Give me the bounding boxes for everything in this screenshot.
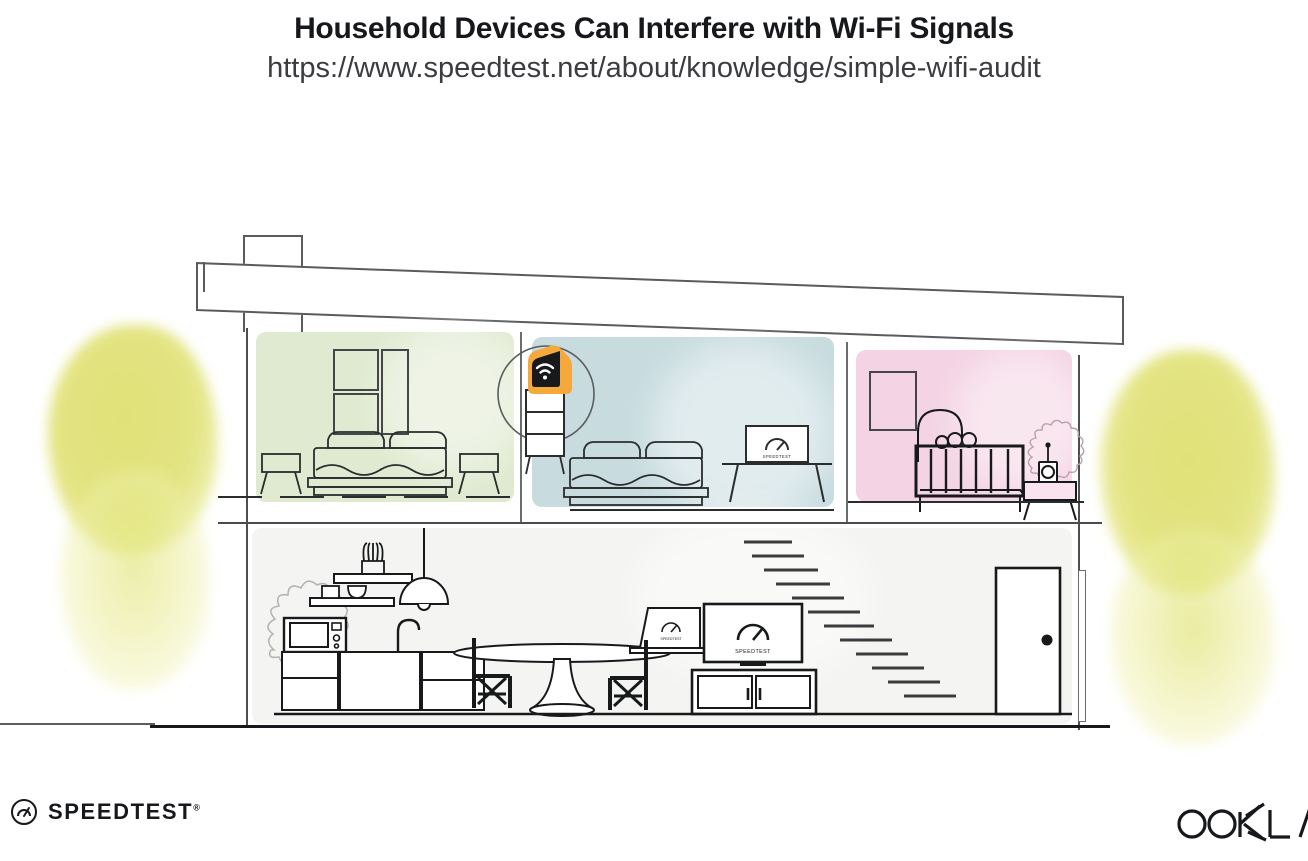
speedtest-wordmark: SPEEDTEST® bbox=[48, 799, 201, 825]
pillow-right bbox=[646, 442, 702, 458]
television[interactable]: SPEEDTEST bbox=[704, 604, 802, 666]
baby-monitor[interactable] bbox=[1039, 442, 1057, 482]
front-door[interactable] bbox=[996, 568, 1060, 714]
tv-screen-label: SPEEDTEST bbox=[735, 649, 771, 655]
desk bbox=[722, 464, 832, 502]
pillow-left bbox=[584, 442, 640, 458]
bed bbox=[308, 432, 452, 495]
bedroom-blue-contents: SPEEDTEST bbox=[498, 342, 838, 537]
exterior-trim-post bbox=[1078, 570, 1086, 722]
ookla-logo bbox=[1174, 802, 1308, 842]
floating-shelf-lower bbox=[310, 598, 394, 606]
computer-monitor[interactable]: SPEEDTEST bbox=[746, 426, 808, 465]
source-url: https://www.speedtest.net/about/knowledg… bbox=[0, 46, 1308, 86]
wifi-router[interactable] bbox=[528, 345, 572, 394]
downstairs-contents: SPEEDTEST bbox=[252, 528, 1082, 738]
pendant-lamp bbox=[400, 528, 448, 610]
footer: SPEEDTEST® bbox=[0, 788, 1308, 848]
divider-wall-2 bbox=[846, 342, 848, 522]
bowls bbox=[322, 586, 366, 598]
wall-frame-square-bottom bbox=[334, 394, 378, 434]
ookla-logo-icon bbox=[1174, 802, 1308, 842]
shelf-unit[interactable] bbox=[526, 390, 564, 474]
house-cutaway-diagram: SPEEDTEST bbox=[0, 110, 1308, 750]
kitchen-sink-faucet bbox=[398, 620, 419, 652]
wifi-dot bbox=[543, 376, 547, 380]
illustration-page: Household Devices Can Interfere with Wi-… bbox=[0, 0, 1308, 861]
utensil-crock bbox=[362, 543, 384, 574]
kitchen-counter bbox=[282, 652, 484, 710]
speedometer-icon bbox=[10, 798, 38, 826]
monitor-screen-label: SPEEDTEST bbox=[763, 454, 792, 459]
floating-shelf-upper bbox=[334, 574, 412, 583]
nightstand-left bbox=[261, 454, 301, 494]
speedtest-logo: SPEEDTEST® bbox=[10, 798, 201, 826]
microwave[interactable] bbox=[284, 618, 346, 652]
page-title: Household Devices Can Interfere with Wi-… bbox=[0, 0, 1308, 46]
nursery-pink-contents bbox=[856, 350, 1086, 535]
wall-frame-square-top bbox=[334, 350, 378, 390]
ground-line-left bbox=[0, 723, 155, 725]
bush-right-lower bbox=[1110, 530, 1275, 745]
laptop-screen-label: SPEEDTEST bbox=[660, 637, 682, 641]
door-knob[interactable] bbox=[1042, 635, 1053, 646]
nightstand-right bbox=[459, 454, 499, 494]
exterior-wall-left bbox=[246, 328, 248, 728]
bed bbox=[564, 442, 708, 505]
trademark-symbol: ® bbox=[193, 803, 201, 813]
wall-frame-tall bbox=[382, 350, 408, 434]
wall-frame bbox=[870, 372, 916, 430]
media-console bbox=[692, 670, 816, 714]
bedroom-green-contents bbox=[256, 332, 518, 527]
laptop[interactable]: SPEEDTEST bbox=[630, 608, 704, 653]
roof-edge bbox=[203, 262, 205, 292]
bush-left-lower bbox=[60, 470, 210, 690]
header: Household Devices Can Interfere with Wi-… bbox=[0, 0, 1308, 86]
